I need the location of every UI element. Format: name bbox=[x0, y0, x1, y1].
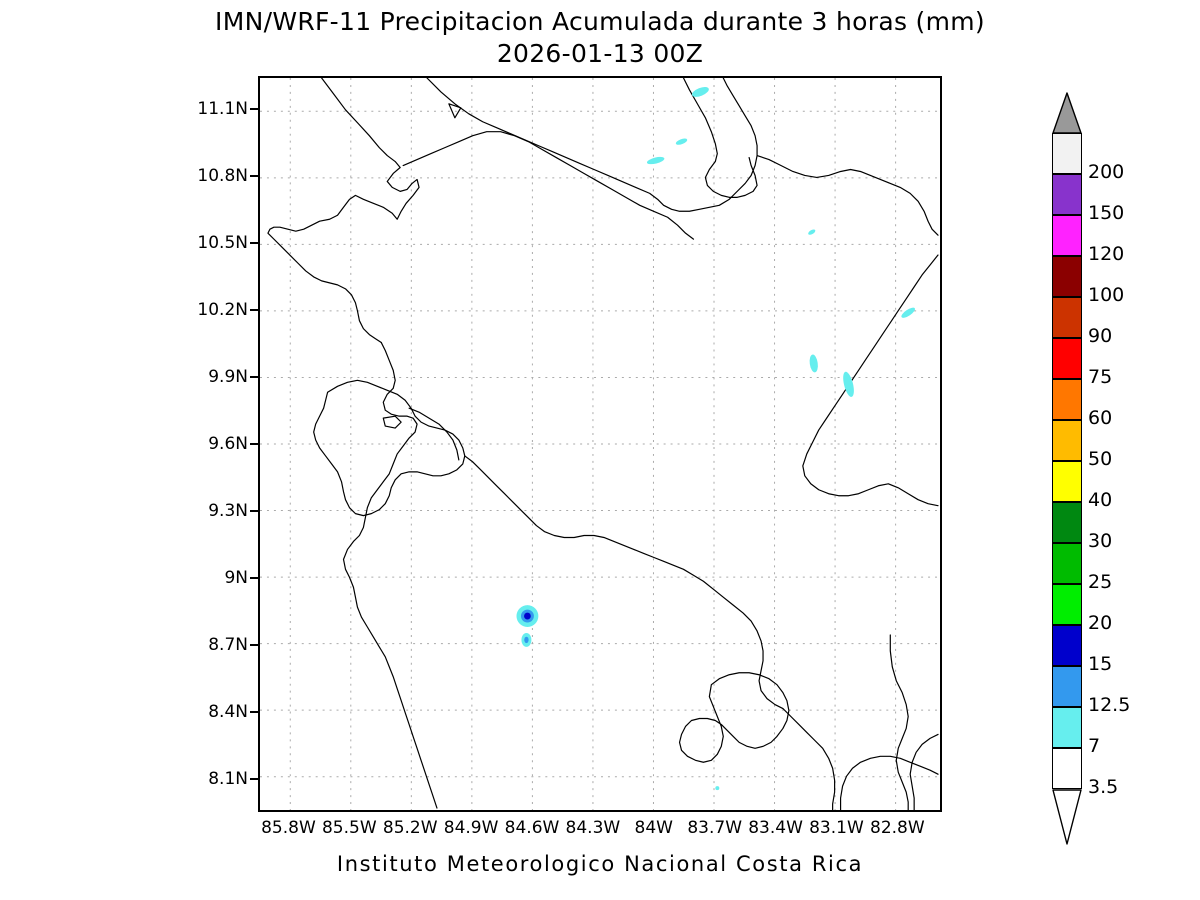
colorbar-band bbox=[1052, 748, 1082, 789]
colorbar-band bbox=[1052, 256, 1082, 297]
colorbar-cap-bottom-icon bbox=[1052, 789, 1082, 845]
precip-streak-n3 bbox=[646, 155, 665, 165]
colorbar-band bbox=[1052, 297, 1082, 338]
chart-title-block: IMN/WRF-11 Precipitacion Acumulada duran… bbox=[0, 6, 1200, 70]
colorbar-band bbox=[1052, 584, 1082, 625]
colorbar-band bbox=[1052, 625, 1082, 666]
precip-streak-e2 bbox=[809, 354, 819, 373]
x-axis-tick-label: 82.8W bbox=[870, 818, 925, 838]
x-axis-tick-label: 85.5W bbox=[322, 818, 377, 838]
x-axis-tick-label: 83.7W bbox=[687, 818, 742, 838]
y-axis-tick-label: 10.5N bbox=[197, 233, 248, 253]
colorbar-tick-label: 200 bbox=[1088, 161, 1124, 183]
colorbar-band bbox=[1052, 420, 1082, 461]
y-axis-tick-label: 8.1N bbox=[208, 769, 248, 789]
colorbar-tick-label: 12.5 bbox=[1088, 694, 1130, 716]
precipitation-layer bbox=[260, 78, 940, 810]
colorbar-bands bbox=[1052, 133, 1082, 789]
x-axis-tick-label: 84W bbox=[635, 818, 673, 838]
footer-caption: Instituto Meteorologico Nacional Costa R… bbox=[0, 852, 1200, 876]
colorbar-cap-top-icon bbox=[1052, 92, 1082, 134]
precip-streak-n2 bbox=[675, 137, 688, 146]
y-axis-tick-label: 9.9N bbox=[208, 367, 248, 387]
colorbar-tick-label: 100 bbox=[1088, 284, 1124, 306]
x-axis-tick-label: 83.1W bbox=[809, 818, 864, 838]
y-axis-tick-label: 9N bbox=[224, 568, 248, 588]
y-axis-tick-label: 11.1N bbox=[197, 99, 248, 119]
x-axis-tick-label: 84.3W bbox=[566, 818, 621, 838]
y-axis-tick-label: 10.8N bbox=[197, 166, 248, 186]
colorbar-tick-label: 50 bbox=[1088, 448, 1112, 470]
colorbar-tick-label: 120 bbox=[1088, 243, 1124, 265]
precip-streak-e3 bbox=[841, 371, 856, 398]
x-axis-tick-label: 84.9W bbox=[444, 818, 499, 838]
precip-streak-e1 bbox=[900, 306, 917, 320]
y-axis-tick-label: 9.6N bbox=[208, 434, 248, 454]
colorbar-tick-label: 20 bbox=[1088, 612, 1112, 634]
colorbar-tick-label: 90 bbox=[1088, 325, 1112, 347]
x-axis-tick-label: 83.4W bbox=[748, 818, 803, 838]
colorbar: 20015012010090756050403025201512.573.5 bbox=[1050, 92, 1190, 812]
colorbar-band bbox=[1052, 461, 1082, 502]
precip-speck-south bbox=[715, 786, 719, 790]
x-axis-tick-label: 85.2W bbox=[383, 818, 438, 838]
colorbar-band bbox=[1052, 502, 1082, 543]
precip-streak-mid bbox=[807, 228, 816, 235]
colorbar-band bbox=[1052, 707, 1082, 748]
y-axis-tick-label: 10.2N bbox=[197, 300, 248, 320]
y-axis-tick-label: 9.3N bbox=[208, 501, 248, 521]
map-plot-area[interactable] bbox=[258, 76, 942, 812]
precip-cell-pacific-small bbox=[521, 633, 531, 647]
colorbar-tick-label: 7 bbox=[1088, 735, 1100, 757]
colorbar-band bbox=[1052, 666, 1082, 707]
y-axis-tick-label: 8.4N bbox=[208, 702, 248, 722]
colorbar-band bbox=[1052, 543, 1082, 584]
colorbar-tick-label: 60 bbox=[1088, 407, 1112, 429]
title-line-2: 2026-01-13 00Z bbox=[0, 38, 1200, 70]
colorbar-tick-label: 15 bbox=[1088, 653, 1112, 675]
y-axis-tick-labels: 11.1N10.8N10.5N10.2N9.9N9.6N9.3N9N8.7N8.… bbox=[150, 76, 248, 812]
colorbar-tick-label: 40 bbox=[1088, 489, 1112, 511]
colorbar-tick-label: 3.5 bbox=[1088, 776, 1118, 798]
precip-cell-pacific-main bbox=[516, 605, 538, 627]
colorbar-tick-label: 25 bbox=[1088, 571, 1112, 593]
colorbar-tick-label: 30 bbox=[1088, 530, 1112, 552]
colorbar-band bbox=[1052, 133, 1082, 174]
title-line-1: IMN/WRF-11 Precipitacion Acumulada duran… bbox=[0, 6, 1200, 38]
y-axis-tick-label: 8.7N bbox=[208, 635, 248, 655]
colorbar-tick-label: 75 bbox=[1088, 366, 1112, 388]
colorbar-band bbox=[1052, 215, 1082, 256]
colorbar-tick-label: 150 bbox=[1088, 202, 1124, 224]
x-axis-tick-label: 84.6W bbox=[505, 818, 560, 838]
colorbar-band bbox=[1052, 174, 1082, 215]
x-axis-tick-label: 85.8W bbox=[261, 818, 316, 838]
x-axis-tick-labels: 85.8W85.5W85.2W84.9W84.6W84.3W84W83.7W83… bbox=[258, 818, 942, 844]
colorbar-band bbox=[1052, 338, 1082, 379]
colorbar-band bbox=[1052, 379, 1082, 420]
precip-streak-n1 bbox=[691, 85, 711, 99]
